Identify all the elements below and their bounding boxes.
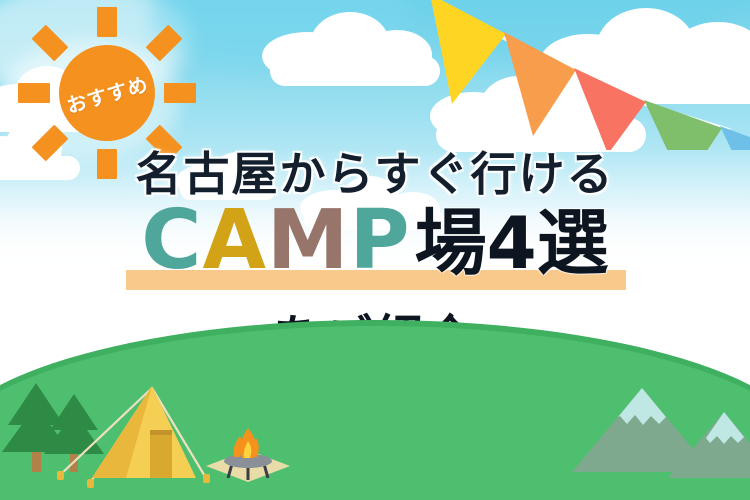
tent-door [150,430,172,478]
scenery-layer [0,0,750,500]
camp-promo-banner: おすすめ 名古屋からすぐ行ける CAMP場4選 をご紹介 [0,0,750,500]
campfire [206,428,290,482]
